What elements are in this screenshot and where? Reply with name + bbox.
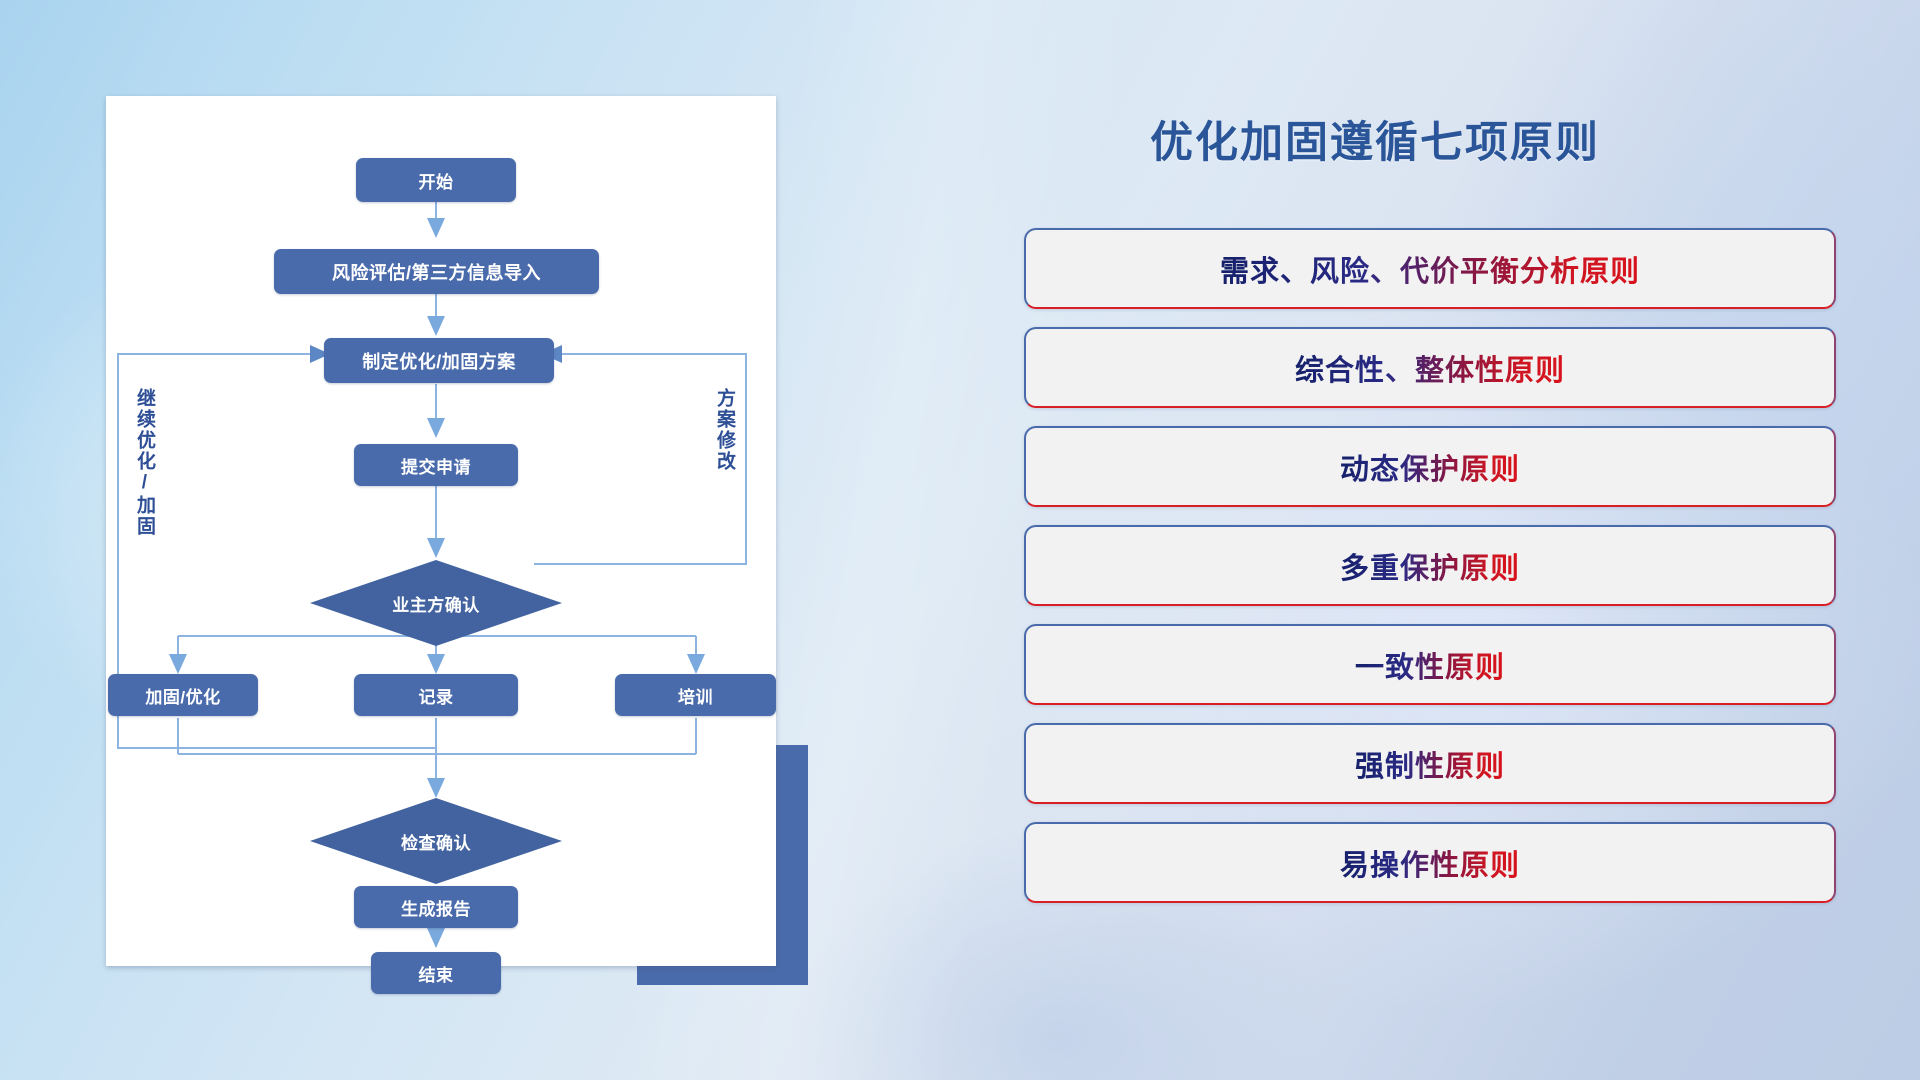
- flow-node-report-label: 生成报告: [401, 895, 471, 920]
- principle-card-4[interactable]: 多重保护原则: [1024, 525, 1836, 606]
- page-title: 优化加固遵循七项原则: [1150, 108, 1600, 170]
- principle-card-4-label: 多重保护原则: [1340, 545, 1520, 587]
- flow-node-record[interactable]: 记录: [354, 674, 518, 716]
- principle-card-5-label: 一致性原则: [1355, 644, 1505, 686]
- flow-node-risk-assessment[interactable]: 风险评估/第三方信息导入: [274, 249, 599, 294]
- flow-node-inspect-confirm-label: 检查确认: [308, 796, 564, 886]
- flow-node-owner-confirm[interactable]: 业主方确认: [308, 558, 564, 648]
- flow-node-training-label: 培训: [678, 683, 713, 708]
- principle-card-7[interactable]: 易操作性原则: [1024, 822, 1836, 903]
- principle-card-3[interactable]: 动态保护原则: [1024, 426, 1836, 507]
- flow-node-training[interactable]: 培训: [615, 674, 776, 716]
- flow-node-risk-assessment-label: 风险评估/第三方信息导入: [332, 259, 541, 285]
- principle-card-1[interactable]: 需求、风险、代价平衡分析原则: [1024, 228, 1836, 309]
- flow-node-end-label: 结束: [419, 961, 454, 986]
- flow-node-owner-confirm-label: 业主方确认: [308, 558, 564, 648]
- flow-node-reinforce-label: 加固/优化: [145, 683, 220, 708]
- flow-node-end[interactable]: 结束: [371, 952, 501, 994]
- flow-node-start[interactable]: 开始: [356, 158, 516, 202]
- principles-panel: 优化加固遵循七项原则 需求、风险、代价平衡分析原则 综合性、整体性原则 动态保护…: [1000, 0, 1920, 1080]
- principle-card-6[interactable]: 强制性原则: [1024, 723, 1836, 804]
- principles-list: 需求、风险、代价平衡分析原则 综合性、整体性原则 动态保护原则 多重保护原则 一…: [1024, 228, 1836, 921]
- principle-card-2[interactable]: 综合性、整体性原则: [1024, 327, 1836, 408]
- flow-node-plan-label: 制定优化/加固方案: [362, 348, 516, 374]
- flow-node-submit-label: 提交申请: [401, 453, 471, 478]
- flowchart-card: 开始 风险评估/第三方信息导入 制定优化/加固方案 提交申请 业主方确认 加固/…: [106, 96, 776, 966]
- flow-node-start-label: 开始: [419, 168, 454, 193]
- principle-card-1-label: 需求、风险、代价平衡分析原则: [1220, 248, 1640, 290]
- edge-label-right-loop: 方案修改: [714, 388, 734, 472]
- flow-node-record-label: 记录: [419, 683, 454, 708]
- flow-node-plan[interactable]: 制定优化/加固方案: [324, 338, 554, 383]
- flowchart-panel: 开始 风险评估/第三方信息导入 制定优化/加固方案 提交申请 业主方确认 加固/…: [0, 0, 860, 1080]
- flow-node-report[interactable]: 生成报告: [354, 886, 518, 928]
- edge-label-left-loop: 继续优化/加固: [134, 388, 154, 537]
- principle-card-7-label: 易操作性原则: [1340, 842, 1520, 884]
- principle-card-6-label: 强制性原则: [1355, 743, 1505, 785]
- flow-node-reinforce[interactable]: 加固/优化: [108, 674, 258, 716]
- principle-card-2-label: 综合性、整体性原则: [1295, 347, 1565, 389]
- flow-node-submit[interactable]: 提交申请: [354, 444, 518, 486]
- flow-node-inspect-confirm[interactable]: 检查确认: [308, 796, 564, 886]
- principle-card-5[interactable]: 一致性原则: [1024, 624, 1836, 705]
- principle-card-3-label: 动态保护原则: [1340, 446, 1520, 488]
